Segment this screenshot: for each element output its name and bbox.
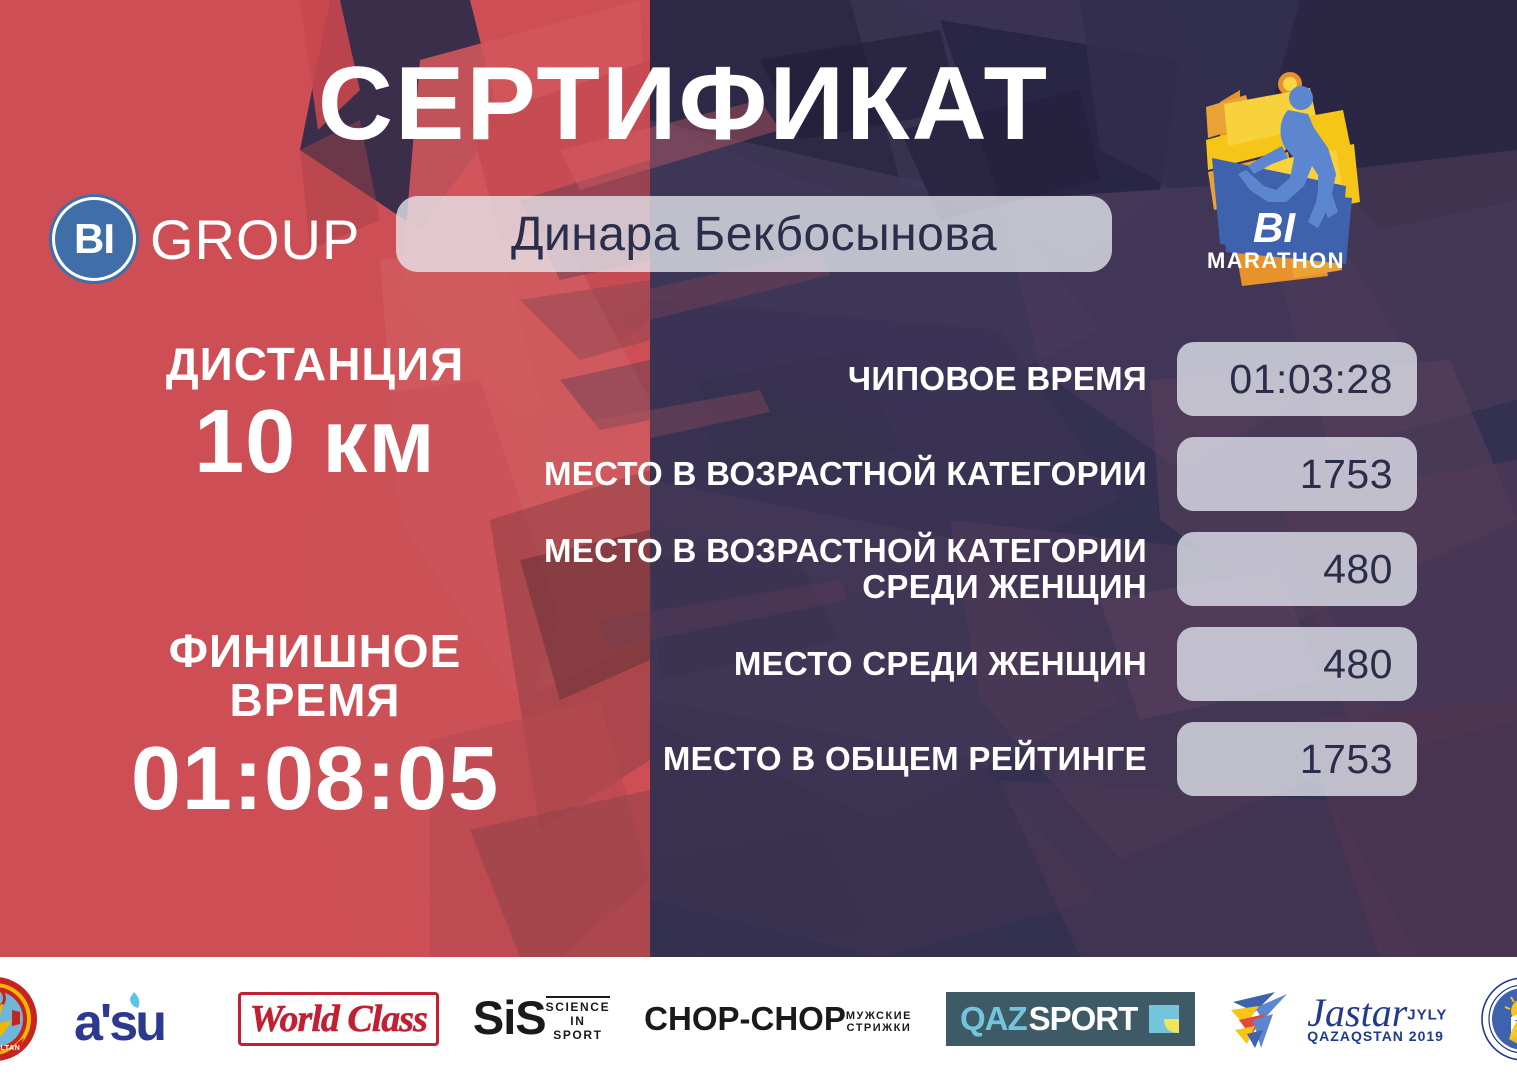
nur-sultan-label: NUR-SULTAN xyxy=(0,1045,20,1052)
distance-label: ДИСТАНЦИЯ xyxy=(80,340,550,389)
stat-row: МЕСТО СРЕДИ ЖЕНЩИН 480 xyxy=(500,627,1417,701)
chop-chop-tagline: МУЖСКИЕ СТРИЖКИ xyxy=(846,1010,912,1034)
bi-group-logo: BI GROUP xyxy=(52,197,360,281)
asu-wordmark: a'su xyxy=(74,994,164,1050)
chip-time-label: ЧИПОВОЕ ВРЕМЯ xyxy=(500,361,1177,397)
sponsor-nur-sultan: NUR-SULTAN xyxy=(0,976,38,1062)
age-category-women-place-pill: 480 xyxy=(1177,532,1417,606)
left-summary-column: ДИСТАНЦИЯ 10 км ФИНИШНОЕ ВРЕМЯ 01:08:05 xyxy=(80,340,550,829)
bi-circle-icon: BI xyxy=(52,197,136,281)
stat-row: МЕСТО В ОБЩЕМ РЕЙТИНГЕ 1753 xyxy=(500,722,1417,796)
sis-tagline: SCIENCE IN SPORT xyxy=(546,996,611,1042)
qazsport-sport: SPORT xyxy=(1029,1000,1138,1038)
distance-block: ДИСТАНЦИЯ 10 км xyxy=(80,340,550,492)
marathon-logo-bi: BI xyxy=(1253,204,1296,251)
bi-marathon-logo: BI MARATHON xyxy=(1168,62,1383,297)
sponsor-jastar: JastarJYLY QAZAQSTAN 2019 xyxy=(1229,986,1447,1052)
participant-name: Динара Бекбосынова xyxy=(511,207,997,262)
participant-name-pill: Динара Бекбосынова xyxy=(396,196,1112,272)
stat-row: ЧИПОВОЕ ВРЕМЯ 01:03:28 xyxy=(500,342,1417,416)
age-category-place-value: 1753 xyxy=(1300,451,1393,498)
sponsor-qazsport: QAZ SPORT xyxy=(946,992,1195,1046)
stat-row: МЕСТО В ВОЗРАСТНОЙ КАТЕГОРИИ 1753 xyxy=(500,437,1417,511)
age-category-place-pill: 1753 xyxy=(1177,437,1417,511)
age-category-place-label: МЕСТО В ВОЗРАСТНОЙ КАТЕГОРИИ xyxy=(500,456,1177,492)
jastar-arrow-icon xyxy=(1229,986,1301,1052)
qazsport-qaz: QAZ xyxy=(960,1000,1027,1038)
jastar-tagline: QAZAQSTAN 2019 xyxy=(1307,1028,1447,1044)
qazsport-mark-icon xyxy=(1147,1003,1181,1035)
finish-time-label: ФИНИШНОЕ ВРЕМЯ xyxy=(80,627,550,725)
ministry-emblem-icon xyxy=(1481,977,1517,1061)
stat-row: МЕСТО В ВОЗРАСТНОЙ КАТЕГОРИИ СРЕДИ ЖЕНЩИ… xyxy=(500,532,1417,606)
women-place-pill: 480 xyxy=(1177,627,1417,701)
chip-time-value: 01:03:28 xyxy=(1229,356,1393,403)
women-place-value: 480 xyxy=(1323,641,1393,688)
finish-time-value: 01:08:05 xyxy=(80,730,550,829)
sponsor-ministry xyxy=(1481,977,1517,1061)
sponsor-chop-chop: CHOP-CHOP МУЖСКИЕ СТРИЖКИ xyxy=(644,1002,912,1035)
brand-name: GROUP xyxy=(150,207,360,272)
sis-wordmark: SiS xyxy=(473,996,546,1041)
asu-logo-icon: a'su xyxy=(72,988,204,1050)
overall-place-pill: 1753 xyxy=(1177,722,1417,796)
sponsor-sis: SiS SCIENCE IN SPORT xyxy=(473,995,610,1042)
sponsor-bar: NUR-SULTAN a'su World Class SiS SCIENCE … xyxy=(0,957,1517,1080)
world-class-wordmark: World Class xyxy=(238,992,439,1046)
overall-place-label: МЕСТО В ОБЩЕМ РЕЙТИНГЕ xyxy=(500,741,1177,777)
age-category-women-place-label: МЕСТО В ВОЗРАСТНОЙ КАТЕГОРИИ СРЕДИ ЖЕНЩИ… xyxy=(500,533,1177,604)
distance-value: 10 км xyxy=(80,393,550,492)
women-place-label: МЕСТО СРЕДИ ЖЕНЩИН xyxy=(500,646,1177,682)
results-stats-list: ЧИПОВОЕ ВРЕМЯ 01:03:28 МЕСТО В ВОЗРАСТНО… xyxy=(500,342,1417,817)
chop-chop-wordmark: CHOP-CHOP xyxy=(644,1002,846,1035)
sponsor-world-class: World Class xyxy=(238,992,439,1046)
age-category-women-place-value: 480 xyxy=(1323,546,1393,593)
jastar-jyly: JYLY xyxy=(1407,1006,1447,1023)
overall-place-value: 1753 xyxy=(1300,736,1393,783)
finish-time-block: ФИНИШНОЕ ВРЕМЯ 01:08:05 xyxy=(80,627,550,828)
sponsor-asu: a'su xyxy=(72,988,204,1050)
nur-sultan-emblem-icon: NUR-SULTAN xyxy=(0,976,38,1062)
marathon-logo-word: MARATHON xyxy=(1207,248,1345,273)
certificate-page: СЕРТИФИКАТ BI GROUP Динара Бекбосынова xyxy=(0,0,1517,1080)
chip-time-pill: 01:03:28 xyxy=(1177,342,1417,416)
